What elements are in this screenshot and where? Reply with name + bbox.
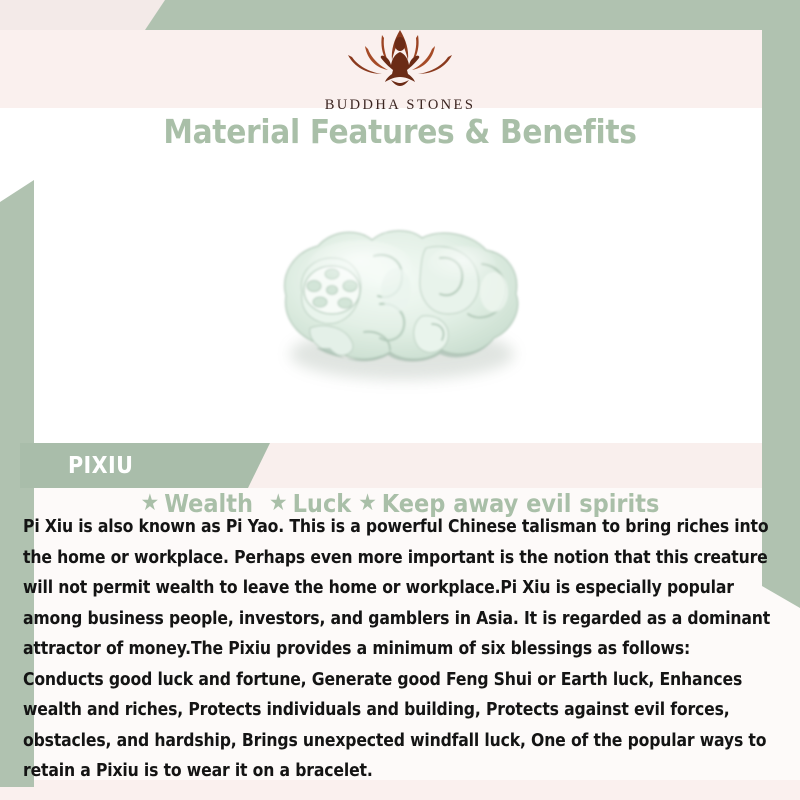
page-title: Material Features & Benefits xyxy=(0,112,800,151)
product-image xyxy=(0,155,800,443)
material-description: Pi Xiu is also known as Pi Yao. This is … xyxy=(23,512,775,787)
material-name-tag: PIXIU xyxy=(20,443,270,488)
lotus-meditation-icon xyxy=(334,22,466,94)
material-name-label: PIXIU xyxy=(68,453,133,479)
product-infographic-page: BUDDHA STONES Material Features & Benefi… xyxy=(0,0,800,800)
brand-logo: BUDDHA STONES xyxy=(0,22,800,114)
